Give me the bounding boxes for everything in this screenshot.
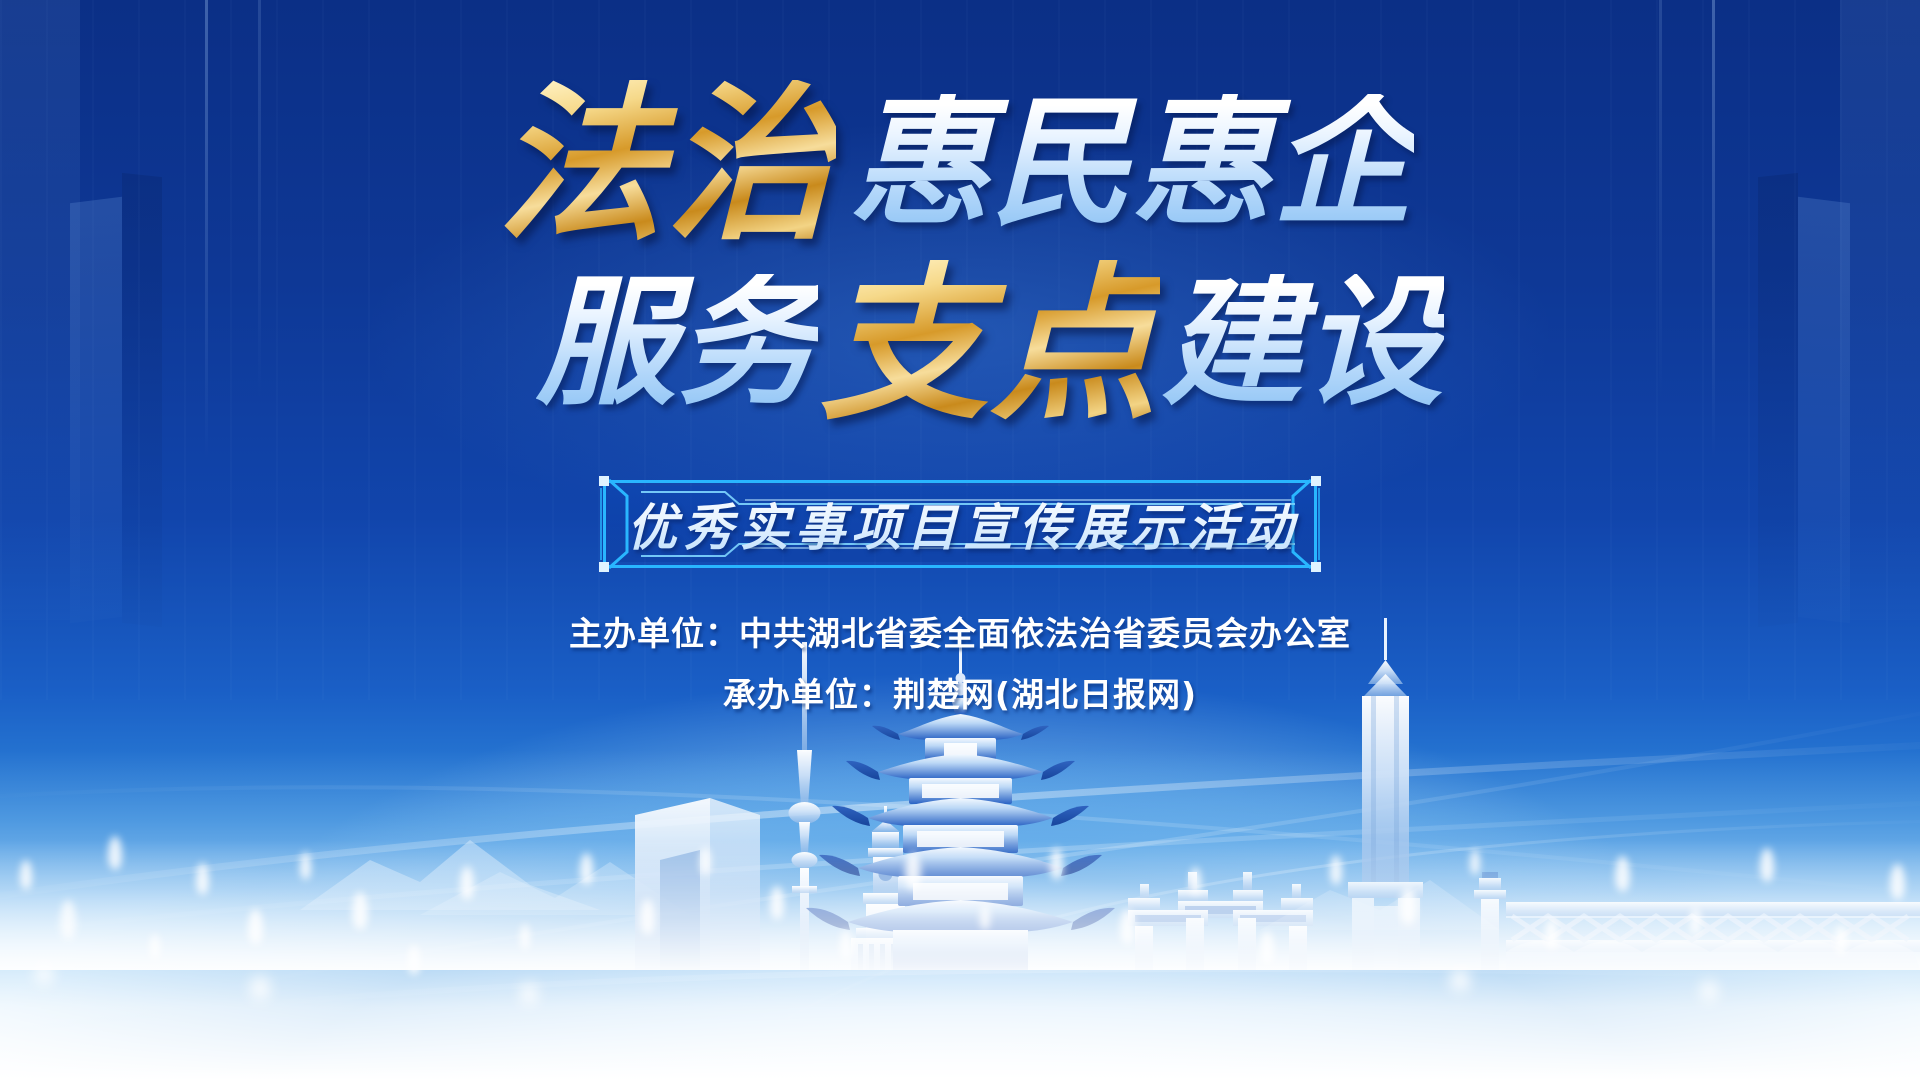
bokeh-particle-layer	[0, 780, 1920, 1080]
headline-word-fuwu: 服务	[536, 274, 818, 414]
subtitle-text: 优秀实事项目宣传展示活动	[575, 470, 1345, 578]
headline-word-huiminhuiqi: 惠民惠企	[850, 94, 1414, 234]
organizer-operator-line: 承办单位：荆楚网(湖北日报网)	[0, 673, 1920, 718]
headline-word-fazhi: 法治	[496, 80, 836, 248]
headline-word-jianshe: 建设	[1162, 274, 1444, 414]
organizer-host-line: 主办单位：中共湖北省委全面依法治省委员会办公室	[0, 612, 1920, 657]
organizer-block: 主办单位：中共湖北省委全面依法治省委员会办公室 承办单位：荆楚网(湖北日报网)	[0, 612, 1920, 733]
headline-line-2: 服务支点建设	[60, 260, 1920, 428]
headline-line-1: 法治惠民惠企	[0, 80, 1920, 248]
subtitle-banner: 优秀实事项目宣传展示活动	[575, 470, 1345, 578]
poster-canvas: 法治惠民惠企 服务支点建设	[0, 0, 1920, 1080]
headline-word-zhidian: 支点	[820, 260, 1160, 428]
headline-block: 法治惠民惠企 服务支点建设	[0, 80, 1920, 428]
